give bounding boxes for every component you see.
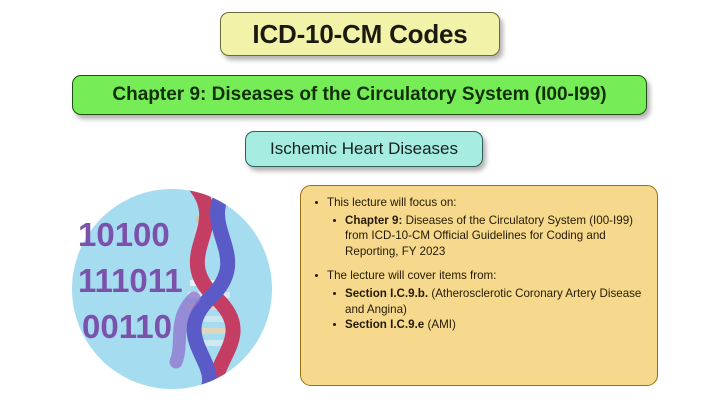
slide-title: ICD-10-CM Codes — [252, 19, 467, 50]
subtopic-label: Ischemic Heart Diseases — [270, 139, 458, 159]
sub-bullet-emphasis: Section I.C.9.e — [345, 318, 424, 331]
binary-line-2: 111011 — [78, 262, 183, 299]
sub-bullet-item: Chapter 9: Diseases of the Circulatory S… — [311, 213, 645, 260]
sub-bullet-text: (AMI) — [424, 318, 456, 331]
binary-line-1: 10100 — [78, 216, 170, 253]
binary-line-3: 00110 — [82, 308, 172, 345]
chapter-banner-label: Chapter 9: Diseases of the Circulatory S… — [112, 84, 606, 106]
bullet-lead: This lecture will focus on: — [311, 195, 645, 211]
slide-title-box: ICD-10-CM Codes — [220, 12, 500, 56]
slide: ICD-10-CM Codes Chapter 9: Diseases of t… — [0, 0, 720, 404]
bullet-group: The lecture will cover items from: Secti… — [311, 268, 645, 332]
bullet-dot-icon — [315, 201, 318, 204]
bullet-lead: The lecture will cover items from: — [311, 268, 645, 284]
sub-bullet-item: Section I.C.9.e (AMI) — [311, 317, 645, 333]
sub-bullet-emphasis: Section I.C.9.b. — [345, 287, 428, 300]
sub-bullet-list: Chapter 9: Diseases of the Circulatory S… — [311, 213, 645, 260]
bullet-dot-icon — [333, 292, 336, 295]
sub-bullet-emphasis: Chapter 9: — [345, 214, 402, 227]
bullet-dot-icon — [315, 274, 318, 277]
binary-dna-illustration: 10100 111011 00110 — [68, 186, 280, 392]
bullet-dot-icon — [333, 219, 336, 222]
sub-bullet-list: Section I.C.9.b. (Atherosclerotic Corona… — [311, 286, 645, 333]
bullet-group: This lecture will focus on: Chapter 9: D… — [311, 195, 645, 259]
bullet-lead-text: This lecture will focus on: — [327, 196, 457, 209]
bullet-dot-icon — [333, 323, 336, 326]
subtopic-box: Ischemic Heart Diseases — [245, 131, 483, 167]
bullet-lead-text: The lecture will cover items from: — [327, 269, 496, 282]
sub-bullet-item: Section I.C.9.b. (Atherosclerotic Corona… — [311, 286, 645, 317]
chapter-banner-box: Chapter 9: Diseases of the Circulatory S… — [72, 75, 647, 115]
content-box: This lecture will focus on: Chapter 9: D… — [300, 185, 658, 386]
